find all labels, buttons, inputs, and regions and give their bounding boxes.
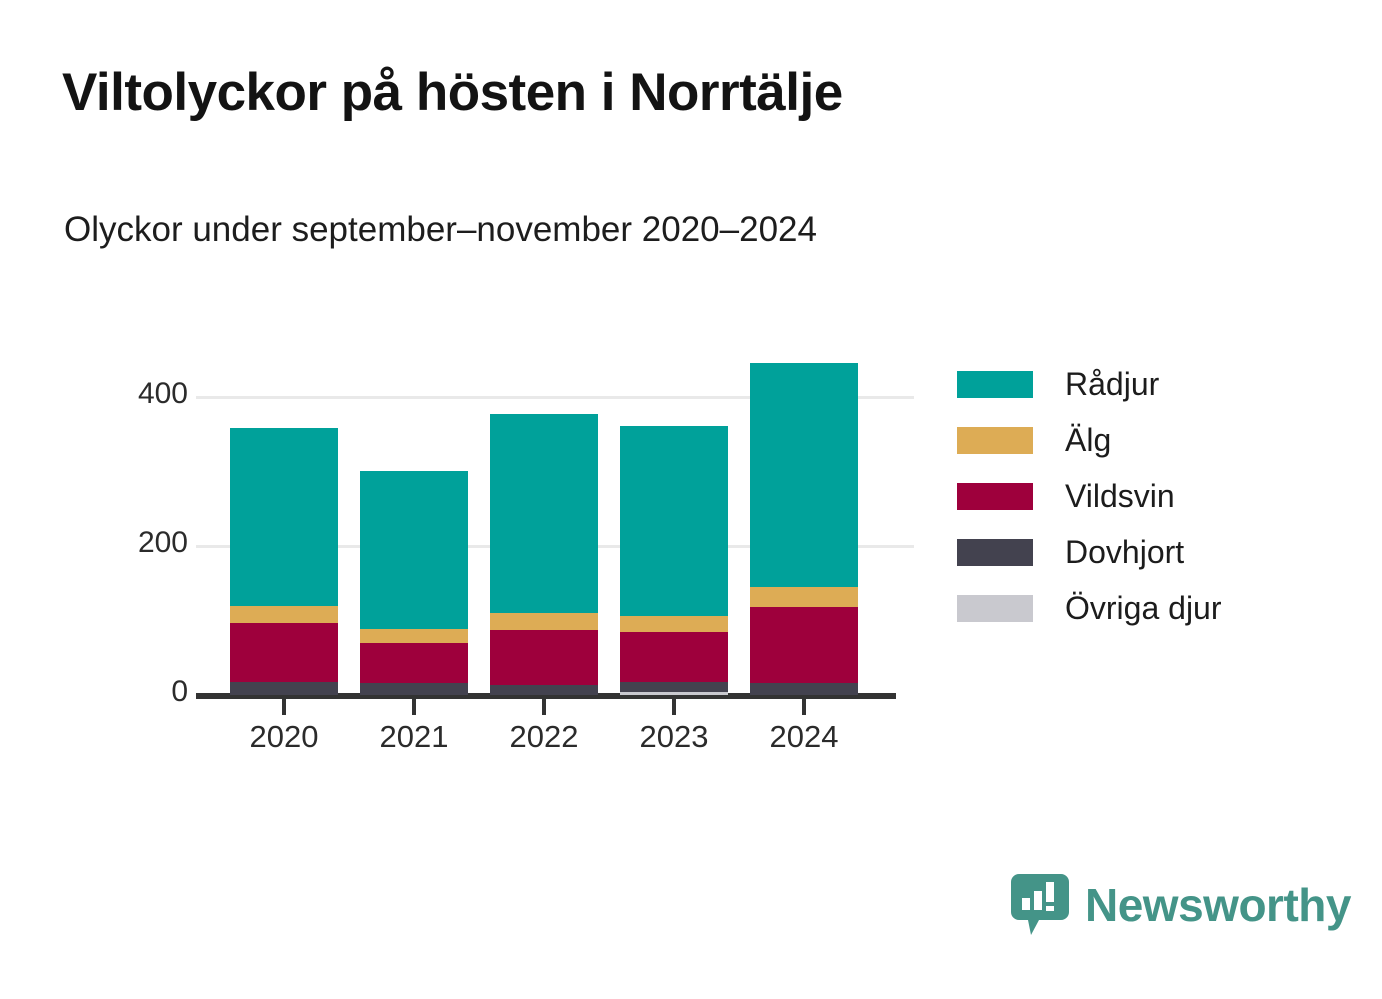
bar-stack-2024[interactable] — [750, 0, 858, 695]
bar-segment-Vildsvin[interactable] — [490, 630, 598, 685]
bar-segment-Vildsvin[interactable] — [230, 623, 338, 683]
legend-swatch-icon — [957, 427, 1033, 454]
x-axis-tick-label: 2022 — [470, 719, 618, 755]
legend-item-Rådjur[interactable]: Rådjur — [957, 356, 1222, 412]
speech-bubble-bar-chart-icon — [1011, 874, 1069, 936]
legend-swatch-icon — [957, 483, 1033, 510]
y-axis-tick-label: 400 — [138, 377, 188, 411]
legend-item-label: Älg — [1065, 422, 1111, 459]
bar-segment-Vildsvin[interactable] — [620, 632, 728, 683]
bar-segment-Vildsvin[interactable] — [360, 643, 468, 683]
chart-card: Viltolyckor på hösten i Norrtälje Olycko… — [0, 0, 1382, 999]
legend-item-Dovhjort[interactable]: Dovhjort — [957, 524, 1222, 580]
legend-item-Vildsvin[interactable]: Vildsvin — [957, 468, 1222, 524]
legend-item-label: Övriga djur — [1065, 590, 1222, 627]
legend-item-label: Dovhjort — [1065, 534, 1184, 571]
bar-stack-2022[interactable] — [490, 0, 598, 695]
x-axis-tick-mark — [282, 699, 286, 715]
bar-segment-Rådjur[interactable] — [620, 426, 728, 616]
bar-segment-Vildsvin[interactable] — [750, 607, 858, 683]
legend-swatch-icon — [957, 539, 1033, 566]
legend-item-Älg[interactable]: Älg — [957, 412, 1222, 468]
x-axis-tick-mark — [412, 699, 416, 715]
logo-wordmark: Newsworthy — [1085, 878, 1351, 932]
legend-item-label: Vildsvin — [1065, 478, 1175, 515]
x-axis-tick-label: 2020 — [210, 719, 358, 755]
y-axis-tick-label: 0 — [171, 675, 188, 709]
bar-segment-Rådjur[interactable] — [490, 414, 598, 613]
x-axis-tick-label: 2021 — [340, 719, 488, 755]
bar-segment-Älg[interactable] — [230, 606, 338, 623]
x-axis-tick-label: 2024 — [730, 719, 878, 755]
y-axis-tick-label: 200 — [138, 526, 188, 560]
x-axis-tick-mark — [542, 699, 546, 715]
bar-segment-Dovhjort[interactable] — [490, 685, 598, 695]
bar-segment-Rådjur[interactable] — [750, 363, 858, 587]
legend-item-Övriga djur[interactable]: Övriga djur — [957, 580, 1222, 636]
legend-item-label: Rådjur — [1065, 366, 1159, 403]
bar-segment-Rådjur[interactable] — [230, 428, 338, 605]
bar-segment-Rådjur[interactable] — [360, 471, 468, 629]
bar-segment-Älg[interactable] — [490, 613, 598, 630]
bar-segment-Älg[interactable] — [750, 587, 858, 607]
bar-stack-2021[interactable] — [360, 0, 468, 695]
bar-stack-2023[interactable] — [620, 0, 728, 695]
newsworthy-logo: Newsworthy — [1011, 874, 1351, 936]
bar-segment-Dovhjort[interactable] — [620, 682, 728, 692]
bar-segment-Dovhjort[interactable] — [230, 682, 338, 695]
legend-swatch-icon — [957, 595, 1033, 622]
bar-segment-Älg[interactable] — [360, 629, 468, 643]
x-axis-tick-label: 2023 — [600, 719, 748, 755]
bar-segment-Dovhjort[interactable] — [750, 683, 858, 695]
x-axis-tick-mark — [802, 699, 806, 715]
bar-stack-2020[interactable] — [230, 0, 338, 695]
bar-segment-Dovhjort[interactable] — [360, 683, 468, 695]
bar-segment-Övriga djur[interactable] — [620, 692, 728, 695]
legend-swatch-icon — [957, 371, 1033, 398]
x-axis-tick-mark — [672, 699, 676, 715]
bar-segment-Älg[interactable] — [620, 616, 728, 632]
chart-legend: RådjurÄlgVildsvinDovhjortÖvriga djur — [957, 356, 1222, 636]
